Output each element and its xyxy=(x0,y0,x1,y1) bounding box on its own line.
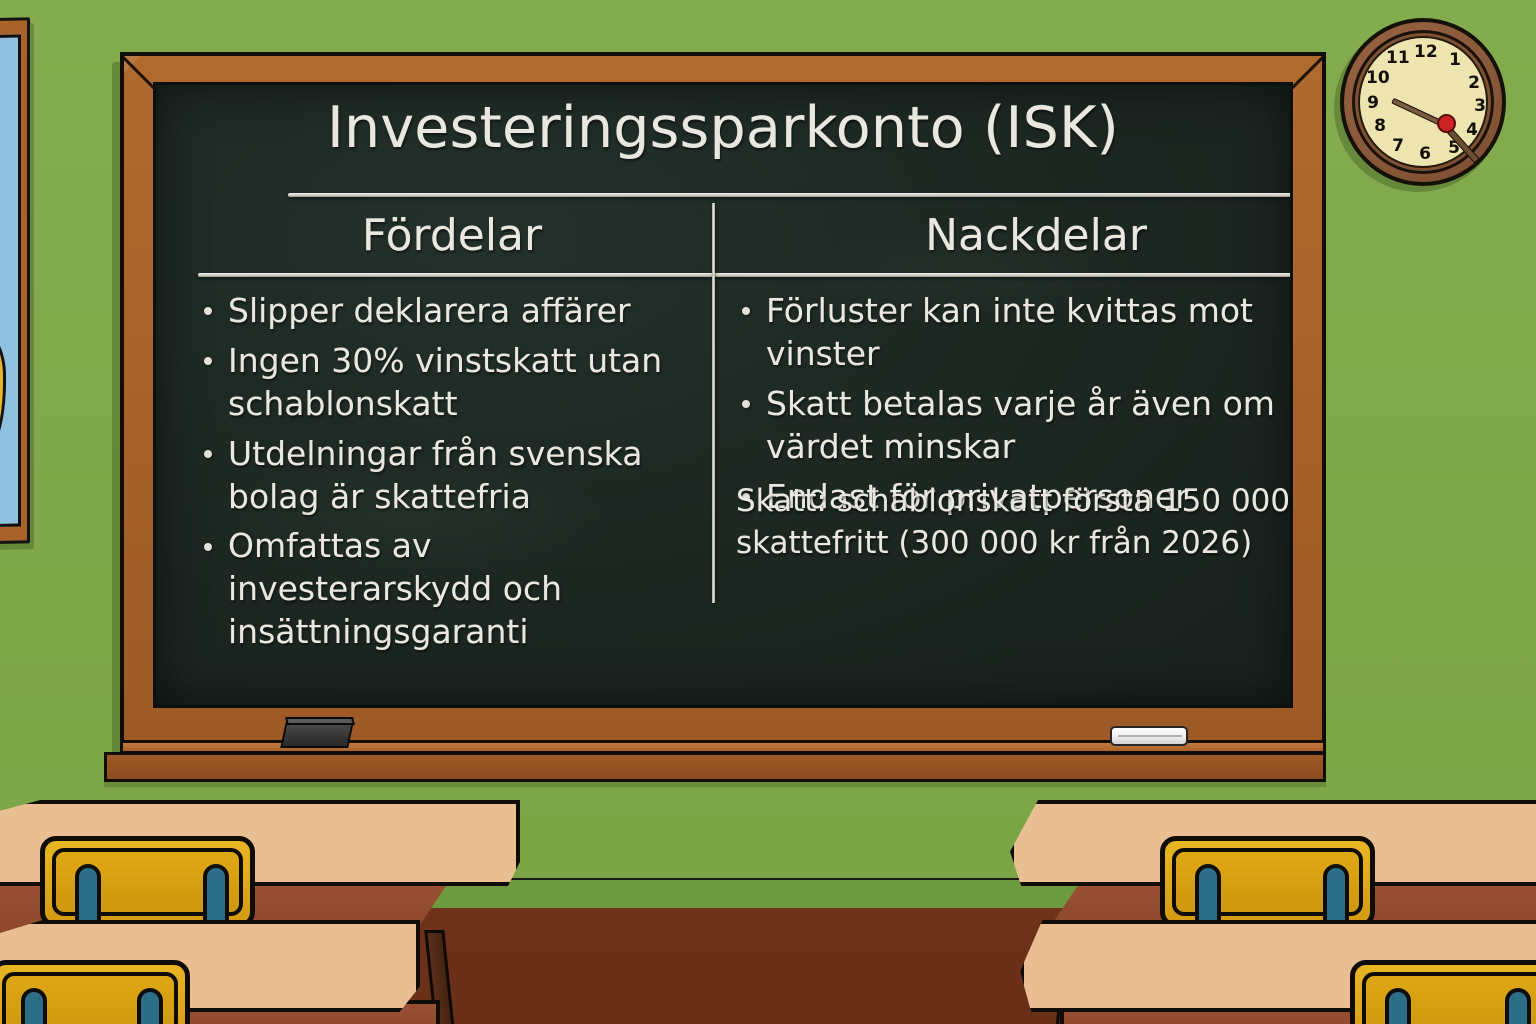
chair-slot xyxy=(203,864,229,928)
column-divider xyxy=(712,203,715,603)
classroom-scene: 12 1 2 3 4 5 6 7 8 9 10 11 Investeringss… xyxy=(0,0,1536,1024)
title-underline xyxy=(288,193,1293,197)
clock-number-10: 10 xyxy=(1366,70,1388,87)
clock-number-8: 8 xyxy=(1369,118,1391,135)
poster-canvas xyxy=(0,34,21,527)
chalk-stick xyxy=(1110,726,1188,746)
bullet-dot-icon xyxy=(204,450,212,458)
blackboard-surface: Investeringssparkonto (ISK) Fördelar Nac… xyxy=(153,82,1293,708)
poster-landmass-icon xyxy=(0,328,6,455)
cons-item-text: Skatt betalas varje år även om värdet mi… xyxy=(766,384,1275,466)
pros-item-text: Omfattas av investerarskydd och insättni… xyxy=(228,526,562,651)
chair-slot xyxy=(21,988,47,1024)
chair-back-front-right xyxy=(1350,960,1536,1024)
bullet-dot-icon xyxy=(204,307,212,315)
clock-center-dot xyxy=(1437,114,1456,133)
pros-column: Slipper deklarera affärer Ingen 30% vins… xyxy=(198,290,706,661)
list-item: Utdelningar från svenska bolag är skatte… xyxy=(198,433,706,519)
clock-number-2: 2 xyxy=(1463,75,1485,92)
bullet-dot-icon xyxy=(742,307,750,315)
chair-back-front-left xyxy=(0,960,190,1024)
pros-item-text: Slipper deklarera affärer xyxy=(228,291,631,330)
chair-back-right xyxy=(1160,836,1375,928)
chair-back-left xyxy=(40,836,255,928)
clock-number-9: 9 xyxy=(1362,95,1384,112)
tax-note: Skatt: schablonskatt första 150 000 kr s… xyxy=(736,480,1293,564)
clock-number-1: 1 xyxy=(1444,52,1466,69)
list-item: Slipper deklarera affärer xyxy=(198,290,706,333)
clock-number-3: 3 xyxy=(1469,98,1491,115)
list-item: Ingen 30% vinstskatt utan schablonskatt xyxy=(198,340,706,426)
clock-face: 12 1 2 3 4 5 6 7 8 9 10 11 xyxy=(1358,36,1488,168)
blackboard-eraser xyxy=(280,722,354,748)
column-heading-cons: Nackdelar xyxy=(722,210,1293,261)
cons-item-text: Förluster kan inte kvittas mot vinster xyxy=(766,291,1253,373)
list-item: Förluster kan inte kvittas mot vinster xyxy=(736,290,1293,376)
headings-underline xyxy=(198,273,1293,277)
list-item: Skatt betalas varje år även om värdet mi… xyxy=(736,383,1293,469)
board-title: Investeringssparkonto (ISK) xyxy=(156,99,1290,159)
clock-number-7: 7 xyxy=(1387,138,1409,155)
chair-slot xyxy=(137,988,163,1024)
chair-slot xyxy=(75,864,101,928)
chair-slot xyxy=(1505,988,1531,1024)
bullet-dot-icon xyxy=(742,400,750,408)
framed-wall-poster xyxy=(0,17,30,544)
clock-number-4: 4 xyxy=(1461,122,1483,139)
list-item: Omfattas av investerarskydd och insättni… xyxy=(198,525,706,654)
bullet-dot-icon xyxy=(204,357,212,365)
chair-slot xyxy=(1195,864,1221,928)
clock-number-12: 12 xyxy=(1414,44,1436,61)
column-heading-pros: Fördelar xyxy=(198,210,706,261)
clock-number-11: 11 xyxy=(1386,50,1408,67)
wall-clock: 12 1 2 3 4 5 6 7 8 9 10 11 xyxy=(1338,18,1508,190)
bullet-dot-icon xyxy=(204,543,212,551)
chalk-ledge-front xyxy=(104,752,1326,782)
chair-slot xyxy=(1385,988,1411,1024)
pros-item-text: Utdelningar från svenska bolag är skatte… xyxy=(228,434,642,516)
pros-item-text: Ingen 30% vinstskatt utan schablonskatt xyxy=(228,341,662,423)
pros-list: Slipper deklarera affärer Ingen 30% vins… xyxy=(198,290,706,654)
chair-slot xyxy=(1323,864,1349,928)
clock-number-6: 6 xyxy=(1414,146,1436,163)
